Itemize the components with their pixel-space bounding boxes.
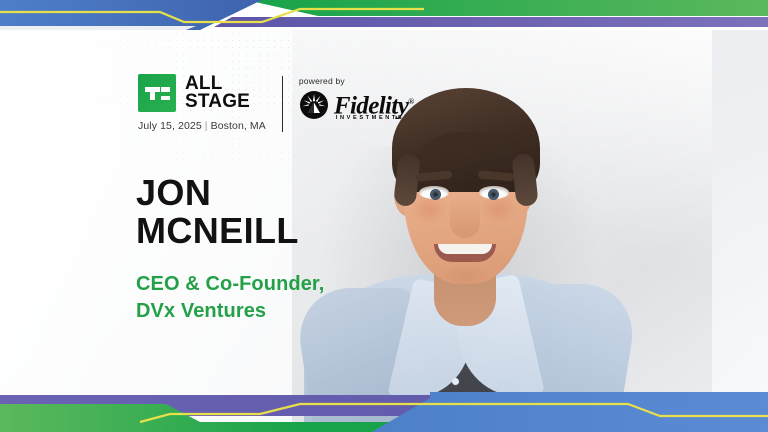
event-date-location: July 15, 2025|Boston, MA xyxy=(138,120,266,132)
sponsor-tagline: INVESTMENTS xyxy=(336,115,414,121)
meta-separator: | xyxy=(205,120,208,132)
speaker-title: CEO & Co-Founder, DVx Ventures xyxy=(136,271,324,325)
photo-shirt-button xyxy=(452,378,459,385)
bottom-decorative-band xyxy=(0,392,768,432)
top-decorative-band xyxy=(0,0,768,30)
techcrunch-tc-mark-icon xyxy=(138,74,176,112)
speaker-name: JON MCNEILL xyxy=(136,174,299,250)
techcrunch-allstage-logo: ALL STAGE July 15, 2025|Boston, MA xyxy=(138,74,266,132)
event-logo-lockup: ALL STAGE July 15, 2025|Boston, MA power… xyxy=(138,74,414,132)
event-date: July 15, 2025 xyxy=(138,120,202,132)
lockup-divider xyxy=(282,76,283,132)
registered-mark: ® xyxy=(408,97,413,106)
event-location: Boston, MA xyxy=(211,120,266,132)
speaker-title-line2: DVx Ventures xyxy=(136,298,324,325)
speaker-title-line1: CEO & Co-Founder, xyxy=(136,271,324,298)
band-purple-shape xyxy=(214,17,768,27)
event-name: ALL STAGE xyxy=(185,75,250,112)
sponsor-name: Fidelity® xyxy=(334,89,414,118)
speaker-announcement-card: ALL STAGE July 15, 2025|Boston, MA power… xyxy=(0,0,768,432)
speaker-first-name: JON xyxy=(136,174,299,212)
photo-chin xyxy=(440,264,490,286)
band-blue-shape-bottom xyxy=(372,392,768,432)
event-name-line2: STAGE xyxy=(185,93,250,112)
photo-nose xyxy=(450,198,480,238)
photo-mouth xyxy=(434,244,496,262)
photo-iris-left xyxy=(430,189,441,200)
fidelity-pyramid-icon xyxy=(299,90,329,120)
photo-iris-right xyxy=(488,189,499,200)
speaker-last-name: MCNEILL xyxy=(136,212,299,250)
photo-teeth xyxy=(438,244,492,254)
powered-by-label: powered by xyxy=(299,76,414,86)
sponsor-lockup: powered by xyxy=(299,74,414,121)
